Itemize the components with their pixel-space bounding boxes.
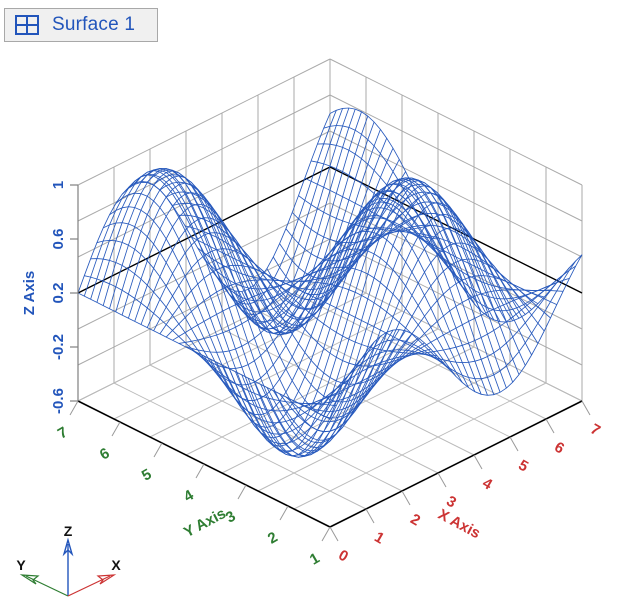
x-tick-7: 7: [587, 421, 603, 440]
surface-grid-icon: [15, 15, 39, 35]
x-tick-5: 5: [515, 457, 531, 476]
y-tick-2: 5: [139, 466, 155, 485]
x-tick-4: 4: [479, 475, 495, 494]
y-tick-1: 6: [97, 445, 113, 464]
compass-x-axis-icon: X: [68, 557, 121, 596]
x-tick-2: 2: [407, 511, 423, 530]
y-tick-3: 4: [181, 486, 197, 505]
orientation-compass[interactable]: Z Y X: [12, 520, 132, 604]
x-tick-1: 1: [371, 529, 387, 548]
y-tick-0: 7: [55, 424, 71, 443]
legend-box[interactable]: Surface 1: [4, 8, 158, 42]
z-tick-1: 0.6: [50, 229, 67, 250]
y-tick-6: 1: [307, 550, 323, 569]
y-axis-title: Y Axis: [181, 505, 229, 541]
x-tick-6: 6: [551, 439, 567, 458]
compass-z-axis-icon: Z: [64, 523, 73, 596]
z-axis-line: [70, 185, 78, 401]
x-tick-0: 0: [335, 547, 351, 566]
compass-y-axis-icon: Y: [16, 557, 68, 596]
compass-x-label: X: [111, 557, 121, 573]
z-tick-3: -0.2: [50, 334, 67, 360]
x-axis-title: X Axis: [435, 506, 483, 542]
z-axis-title: Z Axis: [21, 271, 38, 315]
compass-z-label: Z: [64, 523, 73, 539]
z-tick-labels: 1 0.6 0.2 -0.2 -0.6: [50, 181, 67, 414]
compass-y-label: Y: [16, 557, 26, 573]
floor-outline: [78, 401, 582, 527]
legend-label: Surface 1: [52, 14, 135, 36]
z-tick-0: 1: [50, 181, 67, 189]
z-tick-2: 0.2: [50, 283, 67, 304]
z-tick-4: -0.6: [50, 388, 67, 414]
x-tick-labels: 0 1 2 3 4 5 6 7: [335, 421, 603, 566]
compass-svg: Z Y X: [12, 520, 132, 604]
y-tick-5: 2: [265, 529, 281, 548]
